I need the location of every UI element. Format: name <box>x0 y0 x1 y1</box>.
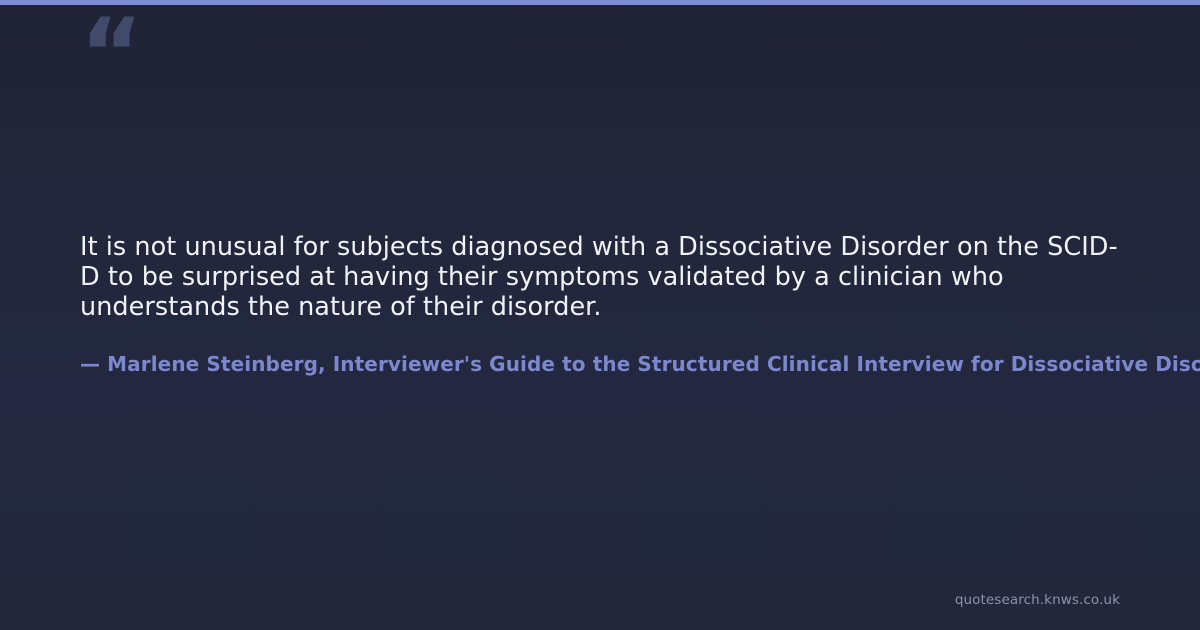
quotation-mark-icon: “ <box>80 6 141 102</box>
footer-site-url: quotesearch.knws.co.uk <box>955 592 1120 608</box>
quote-content-block: It is not unusual for subjects diagnosed… <box>80 232 1200 377</box>
quote-attribution: — Marlene Steinberg, Interviewer's Guide… <box>80 322 1200 377</box>
quote-text: It is not unusual for subjects diagnosed… <box>80 232 1128 322</box>
top-accent-bar <box>0 0 1200 5</box>
quote-card: “ It is not unusual for subjects diagnos… <box>0 0 1200 630</box>
